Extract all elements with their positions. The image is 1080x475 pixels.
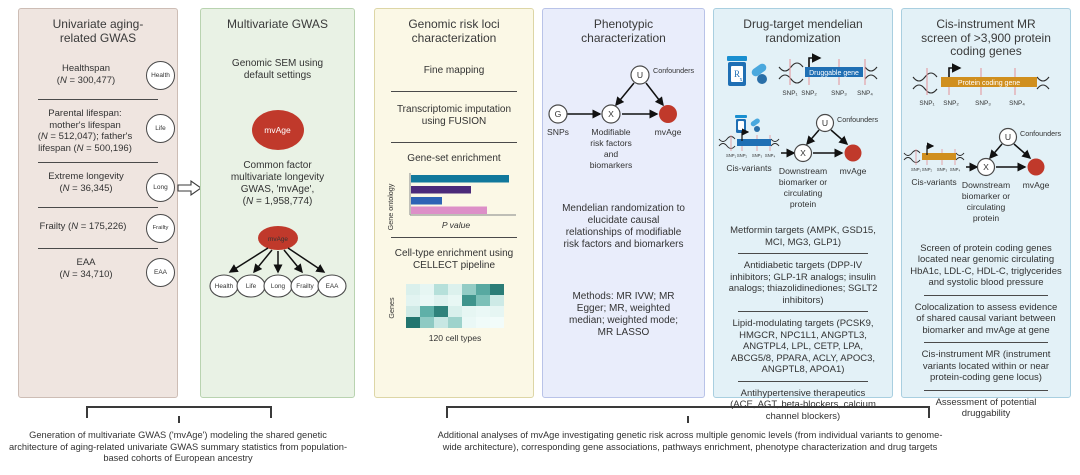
dag-x-labels: Downstream biomarker or circulating prot… xyxy=(962,180,1010,223)
divider xyxy=(738,311,868,312)
item-gene-set-enrichment: Gene-set enrichment xyxy=(375,153,533,165)
dag-mvage-label: mvAge xyxy=(654,127,681,137)
dag-node-mvage xyxy=(845,145,862,162)
bracket-left xyxy=(86,406,272,418)
divider xyxy=(738,253,868,254)
dag-node-x-label: X xyxy=(983,162,989,172)
snp-labels: SNP₁ SNP₂ SNP₃ SNP₄ xyxy=(782,90,873,97)
panel-title: Drug-target mendelian randomization xyxy=(714,9,892,45)
dag-node-x-label: X xyxy=(800,148,806,158)
svg-text:SNP₂: SNP₂ xyxy=(922,167,933,172)
svg-text:x: x xyxy=(740,77,743,83)
panel-multivariate-gwas: Multivariate GWAS Genomic SEM using defa… xyxy=(200,8,355,398)
svg-text:SNP₃: SNP₃ xyxy=(831,90,847,97)
bar-4 xyxy=(411,207,487,215)
svg-text:protein: protein xyxy=(973,213,999,223)
dag-snps-label: SNPs xyxy=(547,127,569,137)
divider xyxy=(38,162,158,163)
svg-text:SNP₄: SNP₄ xyxy=(1009,100,1025,107)
svg-text:SNP₂: SNP₂ xyxy=(943,100,959,107)
svg-text:Downstream: Downstream xyxy=(779,166,827,176)
svg-text:SNP₄: SNP₄ xyxy=(857,90,873,97)
item-metformin-targets: Metformin targets (AMPK, GSD15, MCI, MG3… xyxy=(714,225,892,248)
snp-labels: SNP₁SNP₂ SNP₃SNP₄ xyxy=(911,167,960,172)
cis-variants-label: Cis-variants xyxy=(726,163,771,173)
gene-bar-label: Druggable gene xyxy=(809,70,859,77)
sem-method-text: Genomic SEM using default settings xyxy=(201,58,354,82)
bracket-tick xyxy=(687,416,689,423)
dag-x-label-1: Modifiable xyxy=(591,127,630,137)
cis-variants-label: Cis-variants xyxy=(911,177,956,187)
svg-text:protein: protein xyxy=(790,199,816,209)
divider xyxy=(38,248,158,249)
trait-circle: Life xyxy=(146,114,175,143)
divider xyxy=(924,390,1048,391)
svg-text:circulating: circulating xyxy=(967,202,1006,212)
dag-node-u-label: U xyxy=(1005,132,1011,142)
dag-x-label-3: and xyxy=(603,149,618,159)
svg-text:SNP₄: SNP₄ xyxy=(950,167,961,172)
divider xyxy=(38,99,158,100)
gwas-row: Parental lifespan:mother's lifespan(N = … xyxy=(19,106,177,156)
dag-confounders-label: Confounders xyxy=(837,115,879,124)
caption-right: Additional analyses of mvAge investigati… xyxy=(430,430,950,453)
cis-mr-dag-diagram: SNP₁SNP₂ SNP₃SNP₄ Cis-variants U Confoun… xyxy=(902,127,1070,237)
svg-text:SNP₃: SNP₃ xyxy=(937,167,948,172)
sem-child-label: Health xyxy=(214,283,233,290)
divider xyxy=(38,207,158,208)
svg-text:SNP₃: SNP₃ xyxy=(975,100,991,107)
mvage-node-large: mvAge xyxy=(201,110,354,150)
gwas-row: Frailty (N = 175,226) Frailty xyxy=(19,214,177,240)
divider xyxy=(738,381,868,382)
svg-text:SNP₂: SNP₂ xyxy=(801,90,817,97)
panel-genomic-risk-loci: Genomic risk loci characterization Fine … xyxy=(374,8,534,398)
bar-2 xyxy=(411,186,471,194)
dag-x-labels: Downstream biomarker or circulating prot… xyxy=(779,166,827,209)
panel-phenotypic-characterization: Phenotypic characterization U Confounder… xyxy=(542,8,705,398)
dag-confounders-label: Confounders xyxy=(1020,129,1062,138)
snp-labels: SNP₁SNP₂ SNP₃SNP₄ xyxy=(726,153,775,158)
pill-bottle-icon: R x xyxy=(727,56,747,86)
trait-circle: Health xyxy=(146,61,175,90)
bar-1 xyxy=(411,175,509,183)
dag-node-mvage xyxy=(1028,158,1045,175)
dag-node-g-label: G xyxy=(554,109,561,119)
panel-title: Cis-instrument MR screen of >3,900 prote… xyxy=(902,9,1070,59)
sem-path-diagram: mvAge xyxy=(201,226,354,306)
item-cis-instrument-mr: Cis-instrument MR (instrument variants l… xyxy=(902,349,1070,384)
gwas-row: Extreme longevity(N = 36,345) Long xyxy=(19,169,177,199)
barchart-x-axis-label: P value xyxy=(442,220,471,230)
heatmap-x-axis-label: 120 cell types xyxy=(429,333,482,343)
capsule-icon xyxy=(750,62,768,84)
sem-child-label: EAA xyxy=(325,283,339,290)
svg-text:biomarker or: biomarker or xyxy=(779,177,827,187)
sem-parent-label: mvAge xyxy=(268,236,288,243)
dag-node-u-label: U xyxy=(822,118,828,128)
gwas-row-label: Frailty (N = 175,226) xyxy=(25,214,147,233)
snp-labels: SNP₁ SNP₂ SNP₃ SNP₄ xyxy=(919,100,1025,107)
item-colocalization: Colocalization to assess evidence of sha… xyxy=(902,302,1070,337)
dag-mvage-label: mvAge xyxy=(1023,180,1050,190)
cis-mr-dag-diagram: SNP₁SNP₂ SNP₃SNP₄ Cis-variants U Confoun… xyxy=(714,113,892,223)
divider xyxy=(924,295,1048,296)
bracket-tick xyxy=(178,416,180,423)
sem-child-label: Long xyxy=(270,283,285,290)
dag-node-x-label: X xyxy=(608,109,614,119)
dag-x-label-4: biomarkers xyxy=(589,160,632,170)
mini-capsule-icon xyxy=(750,117,761,132)
divider xyxy=(391,142,517,143)
gwas-row-label: Healthspan(N = 300,477) xyxy=(25,61,147,86)
bracket-right xyxy=(446,406,930,418)
panel-univariate-gwas: Univariate aging- related GWAS Healthspa… xyxy=(18,8,178,398)
mr-description: Mendelian randomization to elucidate cau… xyxy=(543,203,704,251)
bar-3 xyxy=(411,197,442,205)
svg-text:SNP₂: SNP₂ xyxy=(737,153,748,158)
dag-mvage-label: mvAge xyxy=(840,166,867,176)
svg-text:SNP₁: SNP₁ xyxy=(919,100,934,107)
panel-title: Genomic risk loci characterization xyxy=(375,9,533,45)
sem-description: Common factormultivariate longevityGWAS,… xyxy=(201,160,354,208)
item-lipid-modulating-targets: Lipid-modulating targets (PCSK9, HMGCR, … xyxy=(714,318,892,376)
mvage-circle-label: mvAge xyxy=(252,110,304,150)
panel-drug-target-mr: Drug-target mendelian randomization R x xyxy=(713,8,893,398)
svg-text:SNP₃: SNP₃ xyxy=(752,153,763,158)
barchart-y-axis-label: Gene ontology xyxy=(386,183,395,230)
mr-dag-diagram: U Confounders G SNPs X Modifiable risk f… xyxy=(543,59,704,179)
trait-circle: EAA xyxy=(146,258,175,287)
heatmap-cells xyxy=(406,284,504,328)
mini-pill-bottle-icon xyxy=(735,115,747,133)
divider xyxy=(391,237,517,238)
svg-text:biomarker or: biomarker or xyxy=(962,191,1010,201)
svg-text:SNP₁: SNP₁ xyxy=(782,90,797,97)
svg-text:SNP₁: SNP₁ xyxy=(726,153,737,158)
protein-coding-gene-illustration: Protein coding gene SNP₁ SNP₂ SNP₃ SNP₄ xyxy=(902,63,1070,111)
divider xyxy=(924,342,1048,343)
gwas-row-label: Parental lifespan:mother's lifespan(N = … xyxy=(25,106,147,154)
trait-circle: Long xyxy=(146,173,175,202)
item-cell-type-enrichment: Cell-type enrichment using CELLECT pipel… xyxy=(375,248,533,272)
panel-title: Multivariate GWAS xyxy=(201,9,354,32)
gene-bar-label: Protein coding gene xyxy=(958,80,1020,87)
dag-x-label-2: risk factors xyxy=(590,138,632,148)
figure-canvas: Univariate aging- related GWAS Healthspa… xyxy=(0,0,1080,475)
svg-text:circulating: circulating xyxy=(784,188,823,198)
dag-node-u-label: U xyxy=(636,70,642,80)
dag-node-mvage xyxy=(659,105,677,123)
sem-child-label: Frailty xyxy=(296,283,314,290)
svg-text:Downstream: Downstream xyxy=(962,180,1010,190)
svg-text:SNP₄: SNP₄ xyxy=(765,153,776,158)
item-antidiabetic-targets: Antidiabetic targets (DPP-IV inhibitors;… xyxy=(714,260,892,306)
flow-arrow-icon xyxy=(178,180,202,196)
mr-methods: Methods: MR IVW; MR Egger; MR, weighted … xyxy=(543,291,704,339)
panel-title: Univariate aging- related GWAS xyxy=(19,9,177,45)
item-screen-protein-coding: Screen of protein coding genes located n… xyxy=(902,243,1070,289)
panel-title: Phenotypic characterization xyxy=(543,9,704,45)
sem-child-label: Life xyxy=(245,283,256,290)
heatmap-y-axis-label: Genes xyxy=(387,297,396,319)
druggable-gene-illustration: R x xyxy=(714,51,892,101)
caption-left: Generation of multivariate GWAS ('mvAge'… xyxy=(4,430,352,465)
panel-cis-instrument-mr: Cis-instrument MR screen of >3,900 prote… xyxy=(901,8,1071,398)
gwas-row-label: Extreme longevity(N = 36,345) xyxy=(25,169,147,194)
cell-type-heatmap: Genes xyxy=(375,280,533,346)
divider xyxy=(391,91,517,92)
gene-set-enrichment-barchart: Gene ontology P value xyxy=(375,169,533,231)
item-transcriptomic-imputation: Transcriptomic imputation using FUSION xyxy=(375,104,533,128)
dag-confounders-label: Confounders xyxy=(653,66,695,75)
svg-text:SNP₁: SNP₁ xyxy=(911,167,922,172)
item-fine-mapping: Fine mapping xyxy=(375,65,533,77)
gwas-row: EAA(N = 34,710) EAA xyxy=(19,255,177,285)
gwas-row-label: EAA(N = 34,710) xyxy=(25,255,147,280)
gwas-row: Healthspan(N = 300,477) Health xyxy=(19,61,177,91)
trait-circle: Frailty xyxy=(146,214,175,243)
